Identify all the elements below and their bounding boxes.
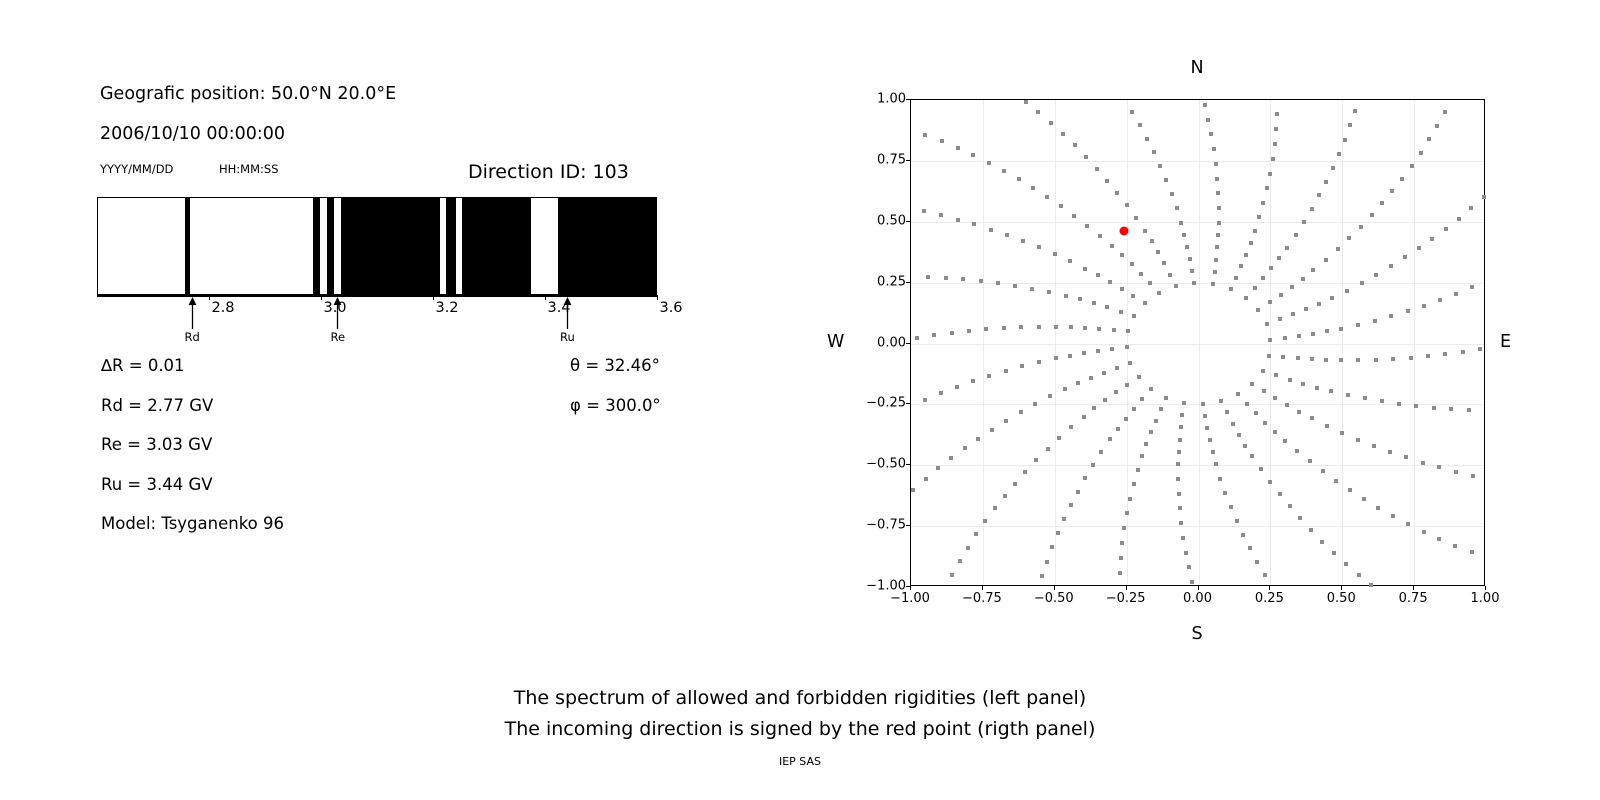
direction-dot	[1099, 450, 1103, 454]
direction-dot	[1325, 329, 1329, 333]
direction-dot	[1288, 378, 1292, 382]
grid-line-horizontal	[911, 465, 1484, 466]
direction-dot	[1419, 151, 1423, 155]
y-axis-tick-mark	[906, 464, 910, 465]
direction-dot	[1190, 580, 1194, 584]
y-axis-tick-mark	[906, 343, 910, 344]
direction-dot	[1298, 516, 1302, 520]
direction-dot	[1410, 164, 1414, 168]
direction-dot	[1255, 560, 1259, 564]
direction-dot	[1037, 245, 1041, 249]
rigidity-marker-label: Re	[331, 330, 346, 344]
forbidden-band	[558, 198, 657, 294]
direction-dot	[1047, 290, 1051, 294]
direction-dot	[1046, 447, 1050, 451]
direction-dot	[1037, 325, 1041, 329]
parameter-line: ∆R = 0.01	[101, 356, 185, 375]
x-axis-tick-label: −0.50	[1034, 591, 1074, 606]
direction-dot	[1380, 201, 1384, 205]
direction-dot	[1296, 356, 1300, 360]
rigidity-marker-label: Rd	[185, 330, 200, 344]
direction-dot	[1176, 477, 1180, 481]
forbidden-band	[341, 198, 440, 294]
direction-dot	[1310, 357, 1314, 361]
direction-dot	[1096, 349, 1100, 353]
direction-dot	[1108, 437, 1112, 441]
direction-dot	[1214, 162, 1218, 166]
direction-dot	[1054, 325, 1058, 329]
direction-dot	[1218, 477, 1222, 481]
direction-dot	[1017, 177, 1021, 181]
direction-dot	[956, 146, 960, 150]
direction-dot	[1143, 301, 1147, 305]
y-axis-tick-label: −0.75	[866, 518, 906, 533]
direction-dot	[1363, 396, 1367, 400]
y-axis-tick-mark	[906, 160, 910, 161]
direction-dot	[1422, 304, 1426, 308]
direction-dot	[1215, 245, 1219, 249]
direction-dot	[1098, 234, 1102, 238]
direction-dot	[1249, 241, 1253, 245]
direction-dot	[1404, 455, 1408, 459]
direction-dot	[1362, 497, 1366, 501]
x-axis-tick-mark	[1485, 586, 1486, 590]
direction-dot	[1176, 462, 1180, 466]
direction-dot	[1278, 492, 1282, 496]
direction-dot	[1330, 296, 1334, 300]
rigidity-marker-label: Ru	[560, 330, 575, 344]
rigidity-marker-arrow	[187, 297, 198, 329]
x-axis-tick-mark	[910, 586, 911, 590]
direction-dot	[1389, 264, 1393, 268]
direction-dot	[1034, 458, 1038, 462]
direction-dot	[1261, 369, 1265, 373]
y-axis-tick-label: 1.00	[877, 92, 906, 107]
direction-dot	[1461, 350, 1465, 354]
direction-dot	[1374, 273, 1378, 277]
direction-dot	[1268, 172, 1272, 176]
direction-dot	[1175, 206, 1179, 210]
direction-dot	[1164, 178, 1168, 182]
direction-dot	[1054, 356, 1058, 360]
direction-dot	[1229, 287, 1233, 291]
footer-attribution: IEP SAS	[0, 755, 1600, 768]
direction-dot	[1002, 169, 1006, 173]
direction-dot	[1453, 544, 1457, 548]
direction-dot	[1158, 164, 1162, 168]
grid-line-vertical	[1055, 100, 1056, 585]
direction-dot	[1084, 155, 1088, 159]
geographic-position-label: Geografic position: 50.0°N 20.0°E	[100, 84, 396, 104]
direction-dot	[976, 437, 980, 441]
direction-dot	[972, 222, 976, 226]
direction-dot	[955, 385, 959, 389]
direction-dot	[1004, 419, 1008, 423]
selected-direction-point	[1119, 227, 1128, 236]
direction-dot	[1301, 277, 1305, 281]
direction-dot	[1245, 402, 1249, 406]
direction-dot	[1211, 282, 1215, 286]
direction-dot	[1346, 393, 1350, 397]
direction-dot	[1297, 334, 1301, 338]
direction-dot	[1069, 425, 1073, 429]
direction-dot	[1144, 442, 1148, 446]
direction-dot	[1269, 266, 1273, 270]
x-axis-tick-label: 0.25	[1255, 591, 1284, 606]
direction-dot	[1134, 216, 1138, 220]
direction-dot	[1023, 470, 1027, 474]
direction-dot	[1143, 229, 1147, 233]
direction-dot	[1170, 192, 1174, 196]
direction-dot	[1097, 327, 1101, 331]
direction-dot	[1273, 142, 1277, 146]
direction-dot	[1422, 530, 1426, 534]
direction-dot	[1478, 347, 1482, 351]
direction-dot	[1064, 294, 1068, 298]
direction-dot	[1110, 244, 1114, 248]
direction-dot	[1002, 326, 1006, 330]
direction-dot	[1125, 345, 1129, 349]
direction-dot	[1082, 351, 1086, 355]
time-format-hint: HH:MM:SS	[219, 162, 279, 176]
direction-dot	[1178, 506, 1182, 510]
direction-dot	[1283, 336, 1287, 340]
direction-dot	[950, 331, 954, 335]
x-axis-tick-label: 0.75	[1399, 591, 1428, 606]
compass-label-east: E	[1500, 332, 1511, 352]
direction-dot	[1229, 505, 1233, 509]
direction-dot	[1115, 191, 1119, 195]
compass-label-south: S	[1191, 624, 1202, 644]
y-axis-tick-label: 0.50	[877, 213, 906, 228]
direction-dot	[1114, 390, 1118, 394]
spectrum-tick-label: 3.2	[435, 300, 458, 316]
direction-dot	[1372, 444, 1376, 448]
direction-dot	[983, 519, 987, 523]
direction-dot	[1073, 143, 1077, 147]
direction-dot	[1076, 381, 1080, 385]
x-axis-tick-label: 0.00	[1183, 591, 1212, 606]
direction-dot	[984, 327, 988, 331]
direction-dot	[1253, 286, 1257, 290]
direction-dot	[1343, 138, 1347, 142]
direction-dot	[1136, 468, 1140, 472]
direction-dot	[1056, 531, 1060, 535]
parameter-line: Model: Tsyganenko 96	[101, 514, 284, 533]
direction-dot	[1268, 480, 1272, 484]
direction-dot	[1152, 150, 1156, 154]
direction-dot	[1268, 300, 1272, 304]
rigidity-spectrum-bar-wrap	[97, 197, 657, 295]
direction-dot	[1149, 387, 1153, 391]
direction-dot	[1348, 488, 1352, 492]
direction-dot	[1311, 268, 1315, 272]
spectrum-axis-line	[97, 295, 657, 297]
direction-dot	[1308, 459, 1312, 463]
direction-dot	[1432, 406, 1436, 410]
direction-dot	[1311, 332, 1315, 336]
direction-dot	[1235, 519, 1239, 523]
direction-dot	[939, 213, 943, 217]
direction-dot	[1454, 470, 1458, 474]
direction-dot	[1250, 382, 1254, 386]
direction-dot	[1263, 573, 1267, 577]
direction-dot	[1259, 467, 1263, 471]
direction-dot	[1209, 132, 1213, 136]
direction-dot	[1334, 479, 1338, 483]
direction-dot	[1304, 307, 1308, 311]
direction-dot	[1257, 215, 1261, 219]
direction-dot	[1188, 257, 1192, 261]
direction-dot	[1435, 124, 1439, 128]
direction-dot	[1132, 407, 1136, 411]
forbidden-band	[446, 198, 456, 294]
x-axis-tick-label: −0.25	[1106, 591, 1146, 606]
direction-dot	[1370, 213, 1374, 217]
direction-dot	[1237, 433, 1241, 437]
direction-dot	[1443, 352, 1447, 356]
direction-dot	[1400, 177, 1404, 181]
direction-dot	[1336, 247, 1340, 251]
spectrum-tick-mark	[545, 295, 546, 300]
direction-dot	[1089, 376, 1093, 380]
grid-line-vertical	[983, 100, 984, 585]
rigidity-spectrum-panel: Geografic position: 50.0°N 20.0°E 2006/1…	[0, 0, 800, 660]
direction-dot	[1265, 322, 1269, 326]
direction-dot	[922, 209, 926, 213]
direction-dot	[1250, 454, 1254, 458]
direction-dot	[1139, 272, 1143, 276]
direction-dot	[1285, 246, 1289, 250]
direction-dot	[1271, 157, 1275, 161]
direction-dot	[1390, 189, 1394, 193]
direction-dot	[1156, 250, 1160, 254]
direction-dot	[1132, 482, 1136, 486]
caption-line-1: The spectrum of allowed and forbidden ri…	[0, 687, 1600, 709]
direction-dot	[1091, 463, 1095, 467]
direction-dot	[1215, 177, 1219, 181]
direction-dot	[1085, 224, 1089, 228]
direction-dot	[949, 456, 953, 460]
direction-dot	[1105, 179, 1109, 183]
direction-dot	[1033, 402, 1037, 406]
direction-dot	[1234, 276, 1238, 280]
direction-dot	[1045, 195, 1049, 199]
direction-dot	[1295, 449, 1299, 453]
direction-dot	[1059, 204, 1063, 208]
direction-dot	[1149, 430, 1153, 434]
direction-dot	[1140, 397, 1144, 401]
direction-dot	[1301, 382, 1305, 386]
direction-dot	[1216, 191, 1220, 195]
direction-dot	[1281, 355, 1285, 359]
direction-dot	[1030, 287, 1034, 291]
direction-dot	[1048, 394, 1052, 398]
datetime-label: 2006/10/10 00:00:00	[100, 124, 285, 144]
direction-dot	[1053, 252, 1057, 256]
direction-dot	[1005, 233, 1009, 237]
direction-dot	[1331, 166, 1335, 170]
direction-dot	[1192, 281, 1196, 285]
direction-dot	[1120, 287, 1124, 291]
direction-dot	[1138, 123, 1142, 127]
direction-dot	[1376, 506, 1380, 510]
x-axis-tick-label: −1.00	[890, 591, 930, 606]
direction-dot	[1320, 540, 1324, 544]
direction-dot	[1212, 147, 1216, 151]
direction-dot	[1040, 574, 1044, 578]
direction-dot	[1279, 293, 1283, 297]
direction-dot	[1096, 273, 1100, 277]
direction-dot	[1102, 371, 1106, 375]
direction-dot	[1131, 294, 1135, 298]
direction-dot	[1265, 186, 1269, 190]
spectrum-tick-mark	[433, 295, 434, 300]
direction-dot	[1013, 482, 1017, 486]
y-axis-tick-mark	[906, 99, 910, 100]
direction-dot	[1389, 314, 1393, 318]
direction-dot	[1321, 469, 1325, 473]
direction-dot	[1437, 465, 1441, 469]
direction-dot	[1357, 573, 1361, 577]
direction-dot	[979, 279, 983, 283]
direction-dot	[1253, 229, 1257, 233]
grid-line-vertical	[1414, 100, 1415, 585]
y-axis-tick-label: 0.75	[877, 152, 906, 167]
direction-dot	[1020, 364, 1024, 368]
direction-dot	[1262, 389, 1266, 393]
direction-dot	[1019, 325, 1023, 329]
direction-dot	[1470, 285, 1474, 289]
direction-dot	[1353, 109, 1357, 113]
direction-dot	[1179, 221, 1183, 225]
forbidden-band	[313, 198, 320, 294]
rigidity-marker-arrow	[562, 297, 573, 329]
direction-dot	[1356, 323, 1360, 327]
parameter-line: φ = 300.0°	[570, 396, 661, 415]
direction-dot	[1083, 326, 1087, 330]
compass-label-west: W	[827, 332, 844, 352]
direction-dot	[939, 391, 943, 395]
direction-dot	[1213, 270, 1217, 274]
direction-dot	[1112, 328, 1116, 332]
direction-dot	[1130, 110, 1134, 114]
direction-dot	[1148, 281, 1152, 285]
direction-dot	[1021, 239, 1025, 243]
direction-dot	[1374, 358, 1378, 362]
direction-dot	[1310, 416, 1314, 420]
direction-dot	[1421, 461, 1425, 465]
direction-dot	[1437, 537, 1441, 541]
y-axis-tick-label: 0.00	[877, 335, 906, 350]
direction-dot	[1443, 110, 1447, 114]
direction-dot	[1095, 167, 1099, 171]
direction-dot	[1267, 354, 1271, 358]
direction-dot	[1294, 233, 1298, 237]
direction-dot	[1309, 528, 1313, 532]
direction-dot	[1057, 436, 1061, 440]
direction-dot	[1182, 233, 1186, 237]
direction-dot	[1274, 373, 1278, 377]
direction-dot	[967, 329, 971, 333]
direction-dot	[1388, 450, 1392, 454]
y-axis-tick-mark	[906, 525, 910, 526]
direction-dot	[1347, 236, 1351, 240]
direction-dot	[1168, 273, 1172, 277]
x-axis-tick-mark	[1341, 586, 1342, 590]
y-axis-tick-label: −0.50	[866, 457, 906, 472]
x-axis-tick-mark	[1054, 586, 1055, 590]
direction-dot	[1290, 285, 1294, 289]
direction-dot	[1076, 490, 1080, 494]
direction-dot	[1125, 203, 1129, 207]
direction-dot	[1217, 206, 1221, 210]
direction-dot	[1190, 269, 1194, 273]
direction-dot	[1225, 410, 1229, 414]
direction-dot	[1406, 522, 1410, 526]
direction-dot	[1236, 392, 1240, 396]
direction-dot	[1049, 121, 1053, 125]
spectrum-tick-label: 3.6	[659, 300, 682, 316]
direction-dot	[1244, 296, 1248, 300]
direction-dot	[1181, 536, 1185, 540]
grid-line-horizontal	[911, 344, 1484, 345]
direction-dot	[923, 133, 927, 137]
direction-dot	[1348, 123, 1352, 127]
direction-dot	[1345, 289, 1349, 293]
direction-dot	[1115, 366, 1119, 370]
direction-dot	[1261, 276, 1265, 280]
x-axis-tick-label: −0.75	[962, 591, 1002, 606]
direction-dot	[1069, 503, 1073, 507]
direction-dot	[1180, 413, 1184, 417]
direction-dot	[1068, 259, 1072, 263]
x-axis-tick-mark	[1269, 586, 1270, 590]
direction-dot	[1092, 301, 1096, 305]
direction-dot	[1471, 474, 1475, 478]
direction-dot	[1118, 571, 1122, 575]
direction-dot	[924, 477, 928, 481]
direction-dot	[1019, 410, 1023, 414]
spectrum-tick-mark	[209, 295, 210, 300]
direction-dot	[1208, 438, 1212, 442]
direction-dot	[1454, 292, 1458, 296]
direction-dot	[956, 218, 960, 222]
direction-dot	[1261, 201, 1265, 205]
direction-dot	[926, 275, 930, 279]
direction-dot	[1120, 253, 1124, 257]
direction-dot	[1273, 430, 1277, 434]
direction-dot	[1214, 462, 1218, 466]
caption-line-2: The incoming direction is signed by the …	[0, 718, 1600, 740]
direction-dot	[1045, 560, 1049, 564]
direction-dot	[1470, 550, 1474, 554]
direction-dot	[1369, 583, 1373, 587]
direction-dot	[1414, 404, 1418, 408]
direction-dot	[1324, 258, 1328, 262]
direction-dot	[1403, 255, 1407, 259]
direction-dot	[1291, 312, 1295, 316]
direction-dot	[1211, 450, 1215, 454]
parameter-line: θ = 32.46°	[570, 356, 660, 375]
parameter-line: Ru = 3.44 GV	[101, 475, 213, 494]
direction-dot	[1430, 237, 1434, 241]
direction-dot	[915, 336, 919, 340]
direction-dot	[1083, 476, 1087, 480]
direction-dot	[1110, 347, 1114, 351]
direction-dot	[1177, 450, 1181, 454]
direction-dot	[1231, 422, 1235, 426]
